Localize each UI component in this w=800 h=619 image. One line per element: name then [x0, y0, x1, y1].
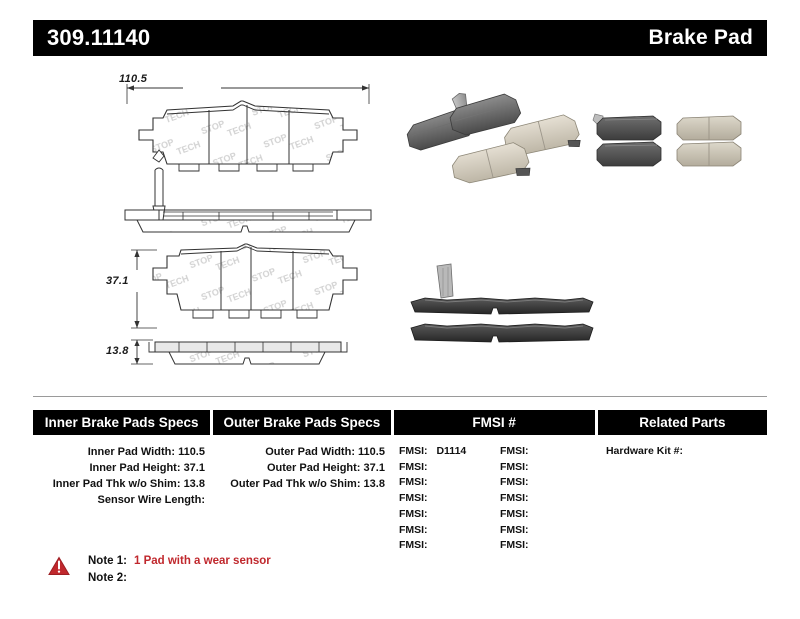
related-parts-column: Hardware Kit #: — [598, 444, 767, 554]
page-title: Brake Pad — [648, 26, 753, 50]
fmsi-row: FMSI: — [494, 491, 595, 507]
spec-value: 37.1 — [364, 462, 385, 474]
spec-row: Outer Pad Thk w/o Shim: 13.8 — [213, 476, 390, 492]
related-part-row: Hardware Kit #: — [598, 444, 767, 460]
spec-label: Sensor Wire Length: — [98, 494, 205, 506]
fmsi-value — [428, 524, 434, 536]
fmsi-value — [529, 492, 535, 504]
part-number: 309.11140 — [47, 25, 150, 51]
fmsi-label: FMSI: — [500, 539, 529, 551]
fmsi-value — [529, 476, 535, 488]
spec-table: Inner Brake Pads Specs Outer Brake Pads … — [33, 410, 767, 554]
fmsi-label: FMSI: — [500, 524, 529, 536]
fmsi-value — [529, 508, 535, 520]
product-photo-side-pair — [403, 250, 603, 365]
note-line: Note 2: — [88, 570, 271, 587]
fmsi-row: FMSI: — [393, 460, 494, 476]
fmsi-value — [529, 461, 535, 473]
inner-specs-column: Inner Pad Width: 110.5 Inner Pad Height:… — [33, 444, 210, 554]
spec-label: Outer Pad Height: — [267, 462, 361, 474]
spec-label: Outer Pad Thk w/o Shim: — [230, 478, 360, 490]
note-lines: Note 1: 1 Pad with a wear sensor Note 2: — [88, 553, 271, 587]
spec-sheet: 309.11140 Brake Pad STOP TECH 110.5 — [0, 0, 800, 619]
fmsi-row: FMSI: — [494, 444, 595, 460]
fmsi-label: FMSI: — [399, 492, 428, 504]
fmsi-row: FMSI: — [494, 538, 595, 554]
fmsi-value — [529, 524, 535, 536]
fmsi-value: D1114 — [430, 445, 466, 457]
fmsi-value — [428, 539, 434, 551]
spec-row: Inner Pad Height: 37.1 — [33, 460, 210, 476]
cad-thickness-view — [123, 334, 373, 382]
fmsi-value — [428, 461, 434, 473]
fmsi-label: FMSI: — [500, 508, 529, 520]
fmsi-label: FMSI: — [399, 461, 428, 473]
fmsi-label: FMSI: — [399, 524, 428, 536]
fmsi-subcolumn-right: FMSI: FMSI: FMSI: FMSI: — [494, 444, 595, 554]
note-line: Note 1: 1 Pad with a wear sensor — [88, 553, 271, 570]
fmsi-row: FMSI: — [494, 523, 595, 539]
fmsi-row: FMSI: — [393, 507, 494, 523]
fmsi-row: FMSI: — [393, 523, 494, 539]
spec-value: 13.8 — [184, 478, 205, 490]
fmsi-row: FMSI: — [393, 491, 494, 507]
fmsi-column: FMSI: D1114 FMSI: FMSI: FMSI: — [393, 444, 595, 554]
drawing-area: STOP TECH 110.5 — [33, 62, 767, 392]
spec-label: Inner Pad Height: — [89, 462, 180, 474]
column-header-inner-specs: Inner Brake Pads Specs — [33, 410, 210, 435]
related-part-label: Hardware Kit #: — [606, 445, 683, 457]
fmsi-label: FMSI: — [399, 445, 428, 457]
spec-row: Inner Pad Thk w/o Shim: 13.8 — [33, 476, 210, 492]
spec-value: 110.5 — [178, 446, 205, 458]
spec-value: 110.5 — [358, 446, 385, 458]
fmsi-label: FMSI: — [500, 476, 529, 488]
product-photo-angled-group — [398, 82, 598, 194]
spec-row: Inner Pad Width: 110.5 — [33, 444, 210, 460]
note-label: Note 2: — [88, 570, 127, 587]
fmsi-label: FMSI: — [399, 539, 428, 551]
spec-value: 37.1 — [184, 462, 205, 474]
fmsi-value — [428, 508, 434, 520]
spec-label: Inner Pad Thk w/o Shim: — [53, 478, 181, 490]
product-photo-flat-group — [573, 98, 763, 194]
spec-row: Outer Pad Height: 37.1 — [213, 460, 390, 476]
column-header-fmsi: FMSI # — [394, 410, 595, 435]
spec-label: Inner Pad Width: — [88, 446, 175, 458]
fmsi-value — [428, 492, 434, 504]
table-header-row: Inner Brake Pads Specs Outer Brake Pads … — [33, 410, 767, 435]
fmsi-label: FMSI: — [399, 476, 428, 488]
column-header-outer-specs: Outer Brake Pads Specs — [213, 410, 390, 435]
fmsi-row: FMSI: — [393, 538, 494, 554]
fmsi-value — [428, 476, 434, 488]
fmsi-value — [529, 539, 535, 551]
fmsi-subcolumn-left: FMSI: D1114 FMSI: FMSI: FMSI: — [393, 444, 494, 554]
spec-row: Outer Pad Width: 110.5 — [213, 444, 390, 460]
fmsi-row: FMSI: D1114 — [393, 444, 494, 460]
fmsi-label: FMSI: — [500, 445, 529, 457]
spec-label: Outer Pad Width: — [265, 446, 355, 458]
cad-edge-view-with-sensor — [123, 166, 373, 234]
fmsi-row: FMSI: — [393, 475, 494, 491]
fmsi-label: FMSI: — [500, 461, 529, 473]
fmsi-label: FMSI: — [500, 492, 529, 504]
notes-section: Note 1: 1 Pad with a wear sensor Note 2: — [48, 553, 271, 587]
fmsi-value — [529, 445, 535, 457]
column-header-related-parts: Related Parts — [598, 410, 767, 435]
table-body: Inner Pad Width: 110.5 Inner Pad Height:… — [33, 444, 767, 554]
spec-value: 13.8 — [364, 478, 385, 490]
fmsi-label: FMSI: — [399, 508, 428, 520]
cad-front-view — [123, 240, 373, 340]
section-divider — [33, 396, 767, 397]
warning-triangle-icon — [48, 556, 70, 576]
spec-row: Sensor Wire Length: — [33, 492, 210, 508]
fmsi-row: FMSI: — [494, 507, 595, 523]
header-bar: 309.11140 Brake Pad — [33, 20, 767, 56]
fmsi-row: FMSI: — [494, 475, 595, 491]
fmsi-row: FMSI: — [494, 460, 595, 476]
note-text: 1 Pad with a wear sensor — [134, 553, 271, 570]
note-label: Note 1: — [88, 553, 127, 570]
outer-specs-column: Outer Pad Width: 110.5 Outer Pad Height:… — [213, 444, 390, 554]
